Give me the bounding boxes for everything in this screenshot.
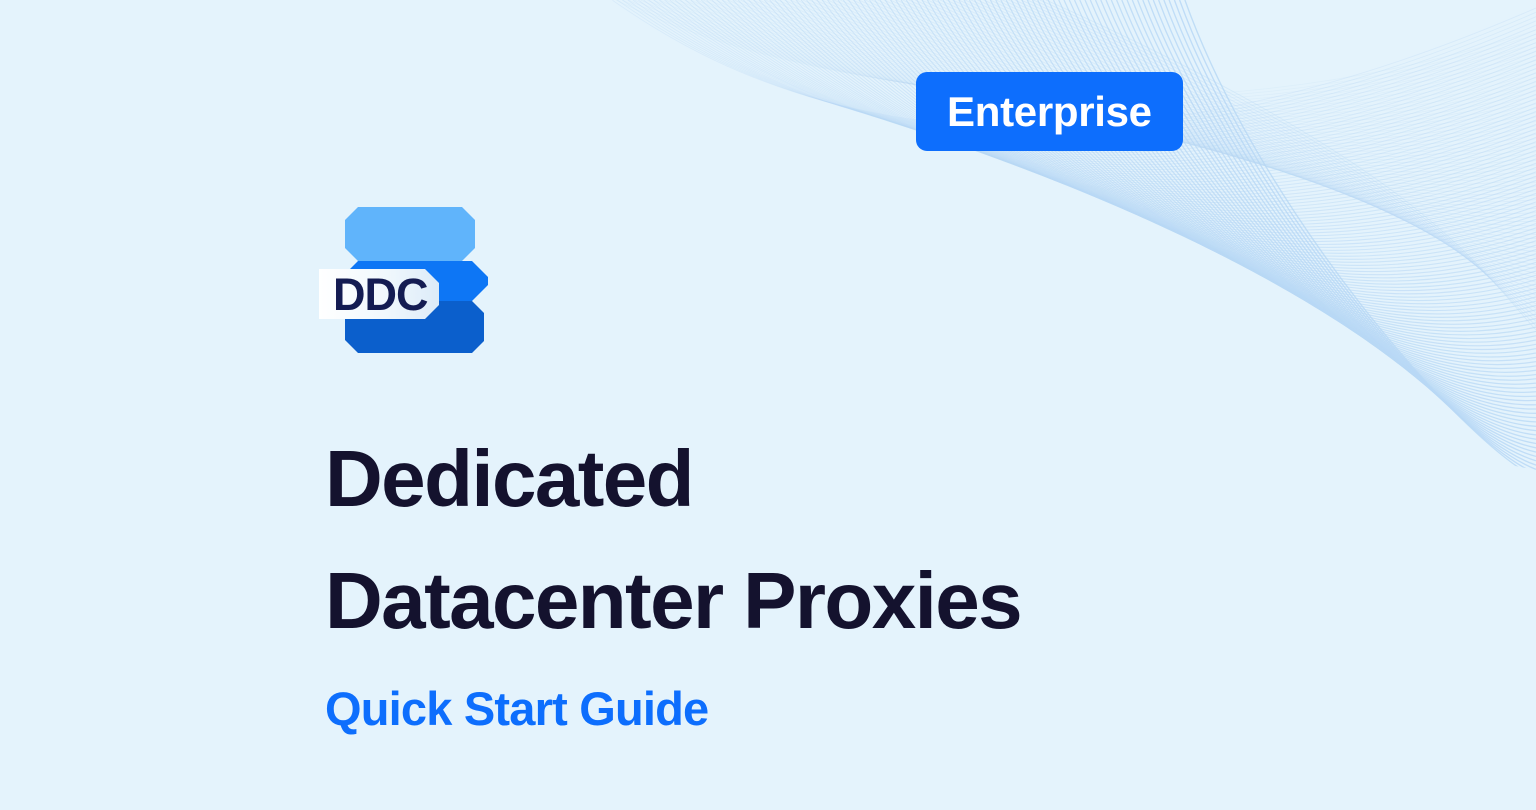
- contour-line: [1148, 0, 1536, 448]
- contour-line: [1106, 0, 1536, 413]
- contour-line: [1027, 0, 1536, 317]
- enterprise-badge-label: Enterprise: [947, 91, 1152, 133]
- contour-line: [1122, 0, 1536, 426]
- contour-line: [1180, 0, 1536, 474]
- contour-line: [1033, 0, 1536, 357]
- contour-line: [1059, 0, 1536, 376]
- contour-line: [1054, 0, 1536, 372]
- contour-line: [975, 0, 1536, 317]
- contour-line: [1132, 0, 1536, 435]
- contour-line: [1001, 0, 1536, 335]
- contour-line: [1153, 0, 1536, 452]
- contour-line: [1101, 0, 1536, 409]
- contour-line: [1117, 0, 1536, 422]
- contour-line: [1034, 0, 1536, 321]
- contour-line: [1040, 0, 1536, 326]
- contour-line: [1096, 0, 1536, 405]
- page-title: Dedicated Datacenter Proxies: [325, 418, 1325, 662]
- contour-line: [1111, 0, 1536, 418]
- ddc-logo: DDC: [319, 205, 491, 357]
- contour-line: [985, 0, 1536, 324]
- contour-line: [1022, 0, 1536, 349]
- contour-line: [964, 0, 1536, 311]
- contour-line: [1017, 0, 1536, 346]
- page-title-line-2: Datacenter Proxies: [325, 540, 1325, 662]
- enterprise-badge: Enterprise: [916, 72, 1183, 151]
- contour-line: [1043, 0, 1536, 365]
- contour-line: [1009, 0, 1536, 304]
- contour-line: [1069, 0, 1536, 384]
- contour-line: [969, 0, 1536, 314]
- contour-line: [1075, 0, 1536, 388]
- contour-line: [1185, 0, 1536, 478]
- contour-line: [1011, 0, 1536, 342]
- contour-line: [1027, 0, 1536, 353]
- contour-line: [959, 0, 1536, 307]
- contour-line: [1127, 0, 1536, 431]
- contour-line: [990, 0, 1536, 328]
- contour-line: [1169, 0, 1536, 465]
- contour-line: [1080, 0, 1536, 392]
- contour-line: [1174, 0, 1536, 469]
- contour-line: [1159, 0, 1536, 456]
- contour-line: [1064, 0, 1536, 380]
- contour-line: [1006, 0, 1536, 339]
- page-title-line-1: Dedicated: [325, 418, 1325, 540]
- page-subtitle: Quick Start Guide: [325, 681, 708, 737]
- contour-line: [1038, 0, 1536, 361]
- contour-line: [954, 0, 1536, 304]
- contour-line-fan-decoration: [0, 0, 1536, 810]
- hero-banner: Enterprise DDC Dedicated Dat: [0, 0, 1536, 810]
- contour-line: [1015, 0, 1536, 308]
- contour-line: [1143, 0, 1536, 444]
- contour-line: [1048, 0, 1536, 368]
- contour-line: [1046, 0, 1536, 330]
- logo-wordmark: DDC: [333, 269, 428, 320]
- contour-line: [1164, 0, 1536, 461]
- contour-line: [996, 0, 1536, 331]
- contour-line: [1021, 0, 1536, 313]
- contour-line: [1090, 0, 1536, 401]
- logo-band-top: [345, 207, 475, 261]
- contour-line: [980, 0, 1536, 321]
- contour-line: [1138, 0, 1536, 439]
- contour-line: [1085, 0, 1536, 396]
